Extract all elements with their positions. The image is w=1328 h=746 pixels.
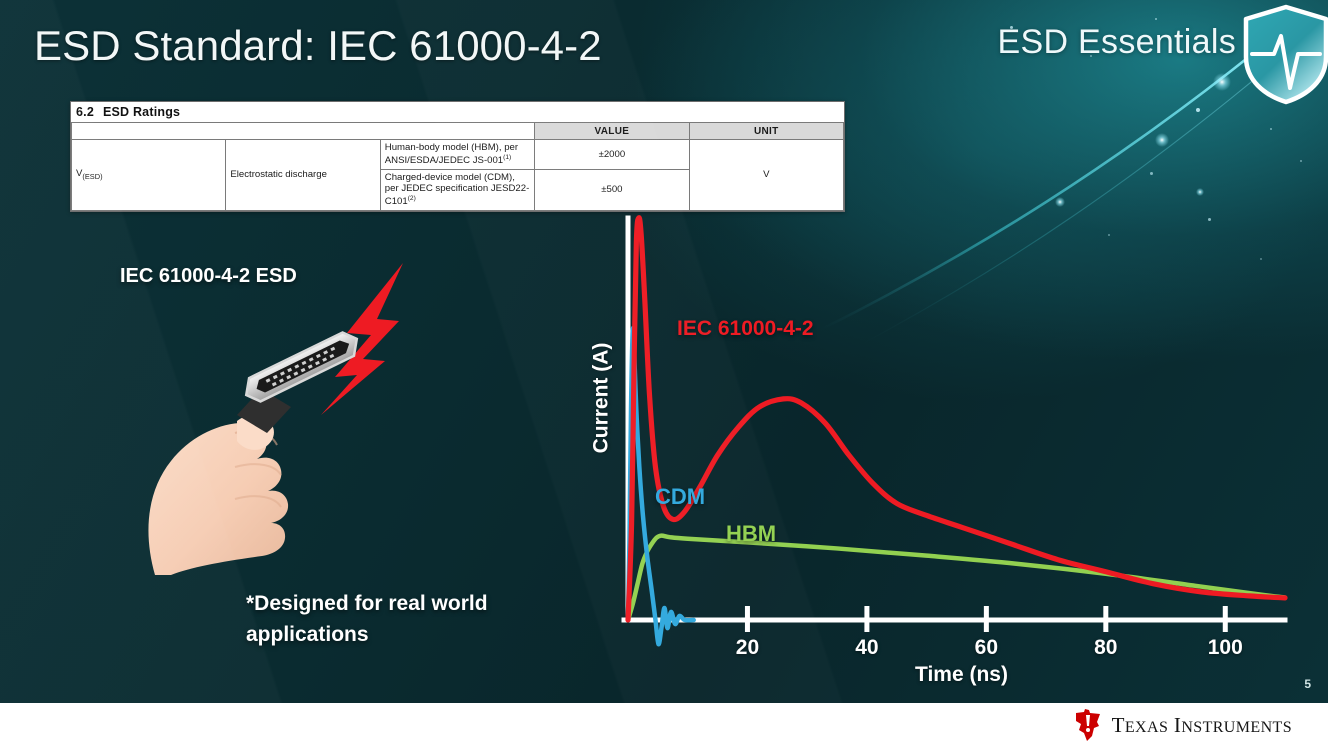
esd-condition-cdm-text: Charged-device model (CDM), per JEDEC sp… [385,172,530,208]
esd-symbol: V(ESD) [72,140,226,211]
esd-waveform-chart: Current (A) Time (ns) 20406080100 IEC 61… [560,190,1328,700]
esd-parameter: Electrostatic discharge [226,140,380,211]
esd-condition-cdm-footnote: (2) [408,195,416,202]
table-header-row: VALUE UNIT [72,123,844,140]
esd-condition-cdm: Charged-device model (CDM), per JEDEC sp… [380,169,534,210]
company-name-instruments-rest: NSTRUMENTS [1181,719,1292,736]
table-header-value: VALUE [535,123,689,140]
x-tick-label-20: 20 [736,636,759,660]
esd-condition-hbm: Human-body model (HBM), per ANSI/ESDA/JE… [380,140,534,170]
spec-section-title: ESD Ratings [103,105,180,119]
slide-background: ESD Standard: IEC 61000-4-2 ESD Essentia… [0,0,1328,703]
esd-condition-hbm-text: Human-body model (HBM), per ANSI/ESDA/JE… [385,142,518,166]
x-tick-label-40: 40 [855,636,878,660]
hand-holding-hdmi-connector-icon [85,255,445,575]
slide-root: ESD Standard: IEC 61000-4-2 ESD Essentia… [0,0,1328,746]
brand-label: ESD Essentials [997,23,1236,62]
star-dot [1155,18,1157,20]
table-header-blank [72,123,535,140]
company-name-texas-rest: EXAS [1125,719,1168,736]
series-line-hbm [628,536,1285,620]
star-dot [1300,160,1302,162]
star-dot [1270,128,1272,130]
star-dot [1196,108,1200,112]
texas-instruments-logo-icon: TEXAS INSTRUMENTS [1073,709,1292,741]
series-label-hbm: HBM [726,521,776,547]
series-label-cdm: CDM [655,484,705,510]
company-name-texas: T [1112,713,1125,737]
page-title: ESD Standard: IEC 61000-4-2 [34,22,602,70]
x-axis-label: Time (ns) [915,663,1008,687]
esd-condition-hbm-footnote: (1) [503,154,511,161]
star-dot [1150,172,1153,175]
table-row: V(ESD) Electrostatic discharge Human-bod… [72,140,844,170]
ti-texas-mark-icon [1073,709,1103,741]
x-tick-label-80: 80 [1094,636,1117,660]
illustration-note: *Designed for real world applications [246,588,546,650]
x-tick-label-60: 60 [975,636,998,660]
shield-pulse-icon [1238,2,1328,106]
series-label-iec: IEC 61000-4-2 [677,317,814,341]
esd-value-hbm: ±2000 [535,140,689,170]
spec-table-title: 6.2ESD Ratings [71,102,844,122]
table-header-unit: UNIT [689,123,843,140]
x-tick-label-100: 100 [1208,636,1243,660]
chart-canvas [560,190,1328,700]
esd-symbol-subscript: (ESD) [82,172,102,181]
y-axis-label: Current (A) [589,343,613,454]
company-name: TEXAS INSTRUMENTS [1112,713,1292,738]
slide-footer: TEXAS INSTRUMENTS [0,703,1328,746]
page-number: 5 [1304,677,1311,691]
spec-section-number: 6.2 [76,105,94,119]
